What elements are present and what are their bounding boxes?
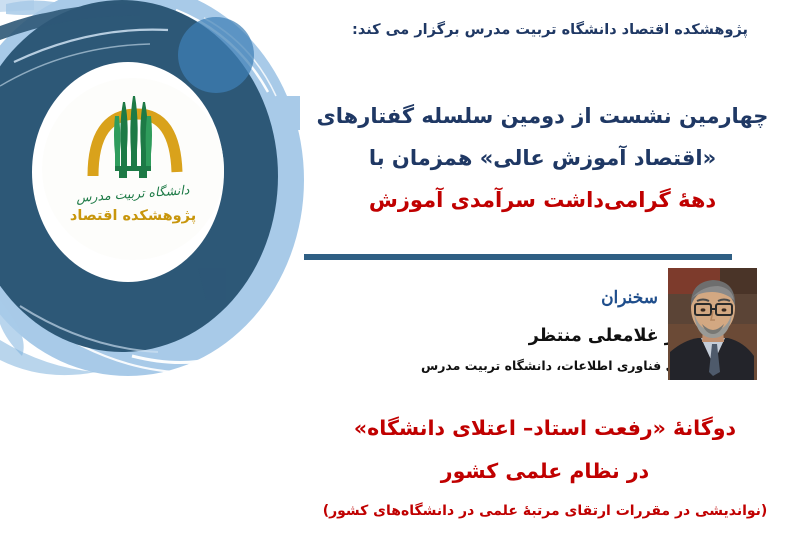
poster-canvas: دانشگاه تربیت مدرس پژوهشکده اقتصاد پژوهش… [0,0,800,553]
title-line-1: چهارمین نشست از دومین سلسله گفتارهای [305,106,780,127]
logo-university-name: دانشگاه تربیت مدرس [76,182,190,205]
topic-note: (نواندیشی در مقررات ارتقای مرتبهٔ علمی د… [300,503,790,519]
institute-logo: دانشگاه تربیت مدرس پژوهشکده اقتصاد [42,78,224,260]
accent-circle [178,17,254,93]
logo-institute-name: پژوهشکده اقتصاد [70,208,196,224]
content-column: پژوهشکده اقتصاد دانشگاه تربیت مدرس برگزا… [280,0,800,553]
university-emblem-icon [79,92,187,184]
title-line-2: «اقتصاد آموزش عالی» همزمان با [305,148,780,169]
title-line-3: دههٔ گرامی‌داشت سرآمدی آموزش [305,190,780,211]
lecture-topic: دوگانهٔ «رفعت استاد– اعتلای دانشگاه» در … [300,418,790,519]
topic-line-2: در نظام علمی کشور [300,461,790,482]
topic-line-1: دوگانهٔ «رفعت استاد– اعتلای دانشگاه» [300,418,790,439]
speaker-label: سخنران [601,288,658,308]
event-title: چهارمین نشست از دومین سلسله گفتارهای «اق… [305,106,780,211]
organizer-header: پژوهشکده اقتصاد دانشگاه تربیت مدرس برگزا… [315,22,785,38]
section-divider [304,254,732,260]
speaker-portrait-photo [668,268,757,380]
